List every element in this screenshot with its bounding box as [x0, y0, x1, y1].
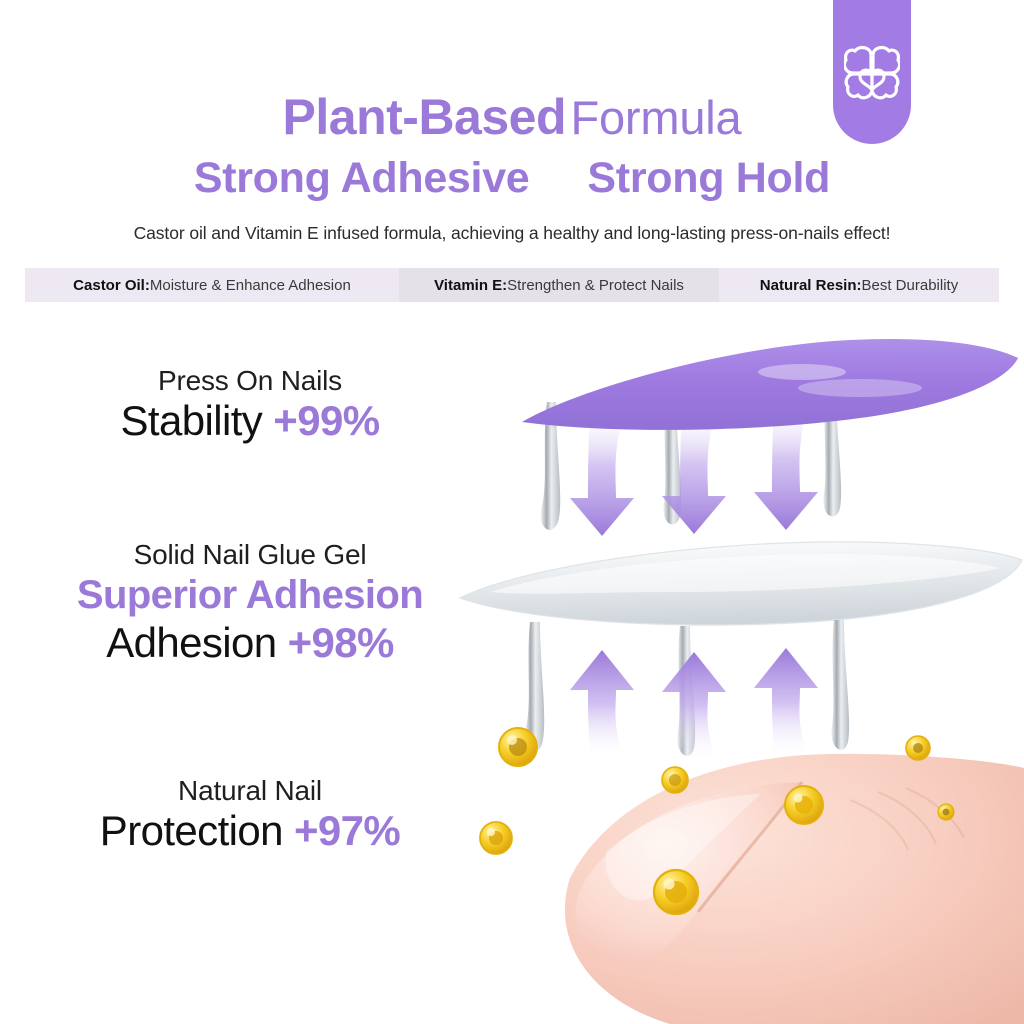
ingredient-desc: Strengthen & Protect Nails	[507, 277, 684, 294]
ingredient-desc: Best Durability	[862, 277, 959, 294]
gold-capsule-large-1	[499, 728, 537, 766]
gold-capsule-tiny-1	[938, 804, 954, 820]
headline-strong-adhesive: Strong Adhesive	[194, 154, 530, 202]
gold-capsule-medium-4	[785, 786, 823, 824]
ingredient-item-castor-oil: Castor Oil: Moisture & Enhance Adhesion	[25, 268, 399, 302]
stat-value-row: Stability +99%	[0, 399, 500, 443]
stat-percent: +97%	[294, 807, 400, 854]
headline-strong-hold: Strong Hold	[587, 154, 830, 202]
stat-value-row: Adhesion +98%	[0, 621, 500, 665]
ingredient-name: Natural Resin:	[760, 277, 862, 294]
stat-block-stability: Press On Nails Stability +99%	[0, 366, 500, 443]
headline-secondary: Strong AdhesiveStrong Hold	[0, 157, 1024, 200]
ingredient-name: Vitamin E:	[434, 277, 507, 294]
subtitle-text: Castor oil and Vitamin E infused formula…	[0, 223, 1024, 244]
stat-caption: Press On Nails	[0, 366, 500, 395]
product-layer-illustration	[430, 330, 1024, 1024]
ingredient-item-vitamin-e: Vitamin E: Strengthen & Protect Nails	[399, 268, 719, 302]
headline-plant-based: Plant-Based	[283, 89, 566, 145]
infographic-page: Plant-Based Formula Strong AdhesiveStron…	[0, 0, 1024, 1024]
stat-percent: +98%	[288, 619, 394, 666]
ingredient-desc: Moisture & Enhance Adhesion	[150, 277, 351, 294]
stat-label: Protection	[100, 807, 283, 854]
stat-percent: +99%	[273, 397, 379, 444]
stat-value-row: Protection +97%	[0, 809, 500, 853]
ingredient-name: Castor Oil:	[73, 277, 150, 294]
gold-capsule-medium-2	[480, 822, 512, 854]
gold-capsule-medium-1	[662, 767, 688, 793]
stat-label: Adhesion	[106, 619, 276, 666]
stat-block-adhesion: Solid Nail Glue Gel Superior Adhesion Ad…	[0, 540, 500, 664]
stat-label: Stability	[121, 397, 263, 444]
stat-block-protection: Natural Nail Protection +97%	[0, 776, 500, 853]
gold-capsule-large-2	[654, 870, 698, 914]
headline-primary: Plant-Based Formula	[0, 92, 1024, 142]
stat-accent-title: Superior Adhesion	[0, 575, 500, 617]
stat-caption: Natural Nail	[0, 776, 500, 805]
gold-capsule-small-1	[906, 736, 930, 760]
stat-caption: Solid Nail Glue Gel	[0, 540, 500, 569]
headline-formula: Formula	[570, 91, 741, 144]
ingredient-item-natural-resin: Natural Resin: Best Durability	[719, 268, 999, 302]
ingredient-bar: Castor Oil: Moisture & Enhance Adhesion …	[25, 268, 999, 302]
gold-capsules-overlay	[430, 330, 1024, 1024]
